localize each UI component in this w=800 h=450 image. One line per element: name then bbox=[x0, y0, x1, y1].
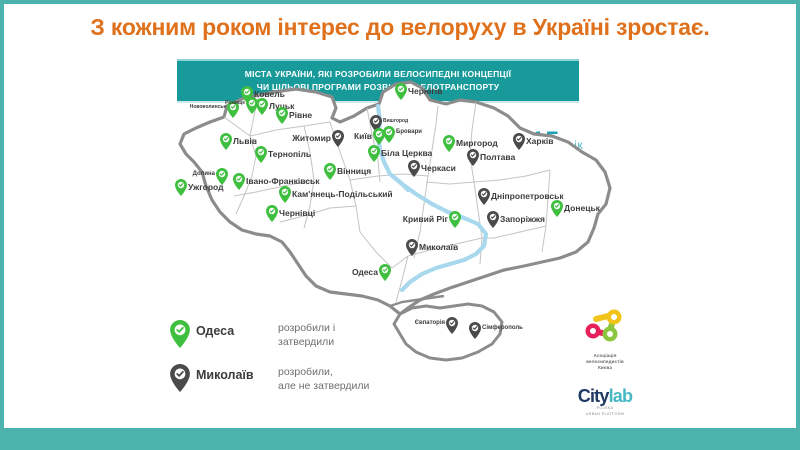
map-pin-label: Долина bbox=[193, 171, 215, 177]
avk-logo-text: Асоціація велосипедистів Києва bbox=[566, 353, 644, 371]
map-pin-label: Вінниця bbox=[337, 166, 371, 176]
infographic: МІСТА УКРАЇНИ, ЯКІ РОЗРОБИЛИ ВЕЛОСИПЕДНІ… bbox=[164, 56, 644, 414]
map-pin-label: Харків bbox=[526, 136, 553, 146]
map-pin-label: Полтава bbox=[480, 152, 515, 162]
citylab-part-lab: lab bbox=[609, 386, 633, 406]
map-pin-label: Євпаторія bbox=[415, 320, 445, 326]
map-pin-label: Бровари bbox=[396, 129, 422, 135]
map-pin-icon bbox=[279, 186, 291, 203]
legend-desc-not-approved: розробили, але не затвердили bbox=[278, 365, 369, 393]
citylab-sub-1: POLSKA bbox=[566, 406, 644, 411]
map-pin-label: Нововолинськ bbox=[190, 104, 226, 110]
citylab-sub-2: URBAN PLATFORM bbox=[566, 412, 644, 417]
map-pin-icon bbox=[175, 179, 187, 196]
map-pin-label: Київ bbox=[354, 131, 372, 141]
map-pin-label: Запоріжжя bbox=[500, 214, 545, 224]
map-pin-icon bbox=[446, 317, 458, 334]
legend-row-approved: Одеса розробили і затвердили bbox=[164, 318, 379, 362]
map-pin-icon bbox=[443, 135, 455, 152]
map-pin-label: Вишгород bbox=[383, 118, 408, 124]
citylab-part-city: City bbox=[578, 386, 609, 406]
bicycle-chain-icon bbox=[581, 306, 629, 350]
map-pin-label: Тернопіль bbox=[268, 149, 311, 159]
legend-desc-approved-line1: розробили і bbox=[278, 321, 335, 335]
map-pin-label: Чернігів bbox=[408, 86, 443, 96]
map-pin-icon bbox=[408, 160, 420, 177]
map-pin-icon bbox=[324, 163, 336, 180]
slide-canvas: З кожним роком інтерес до велоруху в Укр… bbox=[4, 4, 796, 428]
map-pin-label: Житомир bbox=[292, 133, 331, 143]
map-pin-label: Ужгород bbox=[188, 182, 224, 192]
map-pin-label: Миколаїв bbox=[419, 242, 458, 252]
map-pin-icon bbox=[379, 264, 391, 281]
map-pin-icon bbox=[266, 205, 278, 222]
legend-desc-not-approved-line2: але не затвердили bbox=[278, 379, 369, 393]
page-title: З кожним роком інтерес до велоруху в Укр… bbox=[4, 14, 796, 41]
map-pin-label: Одеса bbox=[352, 267, 378, 277]
map-pin-icon bbox=[449, 211, 461, 228]
map-pin-label: Кривий Ріг bbox=[403, 214, 448, 224]
legend-desc-not-approved-line1: розробили, bbox=[278, 365, 369, 379]
legend-row-not-approved: Миколаїв розробили, але не затвердили bbox=[164, 362, 379, 406]
legend-city-not-approved: Миколаїв bbox=[196, 368, 254, 382]
map-pin-icon bbox=[487, 211, 499, 228]
map-pin-icon bbox=[255, 146, 267, 163]
map-pin-icon bbox=[513, 133, 525, 150]
avk-line-3: Києва bbox=[566, 365, 644, 371]
legend-pin-not-approved-icon bbox=[170, 364, 190, 392]
avk-logo: Асоціація велосипедистів Києва bbox=[566, 306, 644, 371]
map-pin-icon bbox=[276, 107, 288, 124]
legend-city-approved: Одеса bbox=[196, 324, 234, 338]
map-pin-icon bbox=[406, 239, 418, 256]
map-pin-icon bbox=[233, 173, 245, 190]
map-pin-label: Чернівці bbox=[279, 208, 315, 218]
map-pin-icon bbox=[551, 200, 563, 217]
legend-desc-approved-line2: затвердили bbox=[278, 335, 335, 349]
map-pin-label: Біла Церква bbox=[381, 148, 432, 158]
map-pin-label: Миргород bbox=[456, 138, 498, 148]
citylab-logo: Citylab POLSKA URBAN PLATFORM bbox=[566, 387, 644, 417]
map-pin-label: Сімферополь bbox=[482, 325, 523, 331]
map-pin-icon bbox=[220, 133, 232, 150]
map-pin-icon bbox=[383, 126, 395, 143]
map-pin-label: Кам'янець-Подільський bbox=[292, 189, 393, 199]
map-pin-label: Івано-Франківськ bbox=[246, 176, 320, 186]
legend-pin-approved-icon bbox=[170, 320, 190, 348]
map-legend: Одеса розробили і затвердили Миколаїв ро… bbox=[164, 318, 379, 406]
map-pin-icon bbox=[467, 149, 479, 166]
map-pin-icon bbox=[332, 130, 344, 147]
map-pin-icon bbox=[469, 322, 481, 339]
map-pin-icon bbox=[368, 145, 380, 162]
map-pin-label: Рожище bbox=[225, 100, 245, 106]
map-pin-label: Львів bbox=[233, 136, 257, 146]
map-pin-icon bbox=[395, 83, 407, 100]
logo-group: Асоціація велосипедистів Києва Citylab P… bbox=[566, 306, 644, 417]
map-pin-icon bbox=[478, 188, 490, 205]
map-pin-label: Черкаси bbox=[421, 163, 456, 173]
legend-desc-approved: розробили і затвердили bbox=[278, 321, 335, 349]
map-pin-icon bbox=[256, 98, 268, 115]
citylab-wordmark: Citylab bbox=[566, 387, 644, 405]
map-pin-label: Донецьк bbox=[564, 203, 600, 213]
map-pin-label: Рівне bbox=[289, 110, 312, 120]
